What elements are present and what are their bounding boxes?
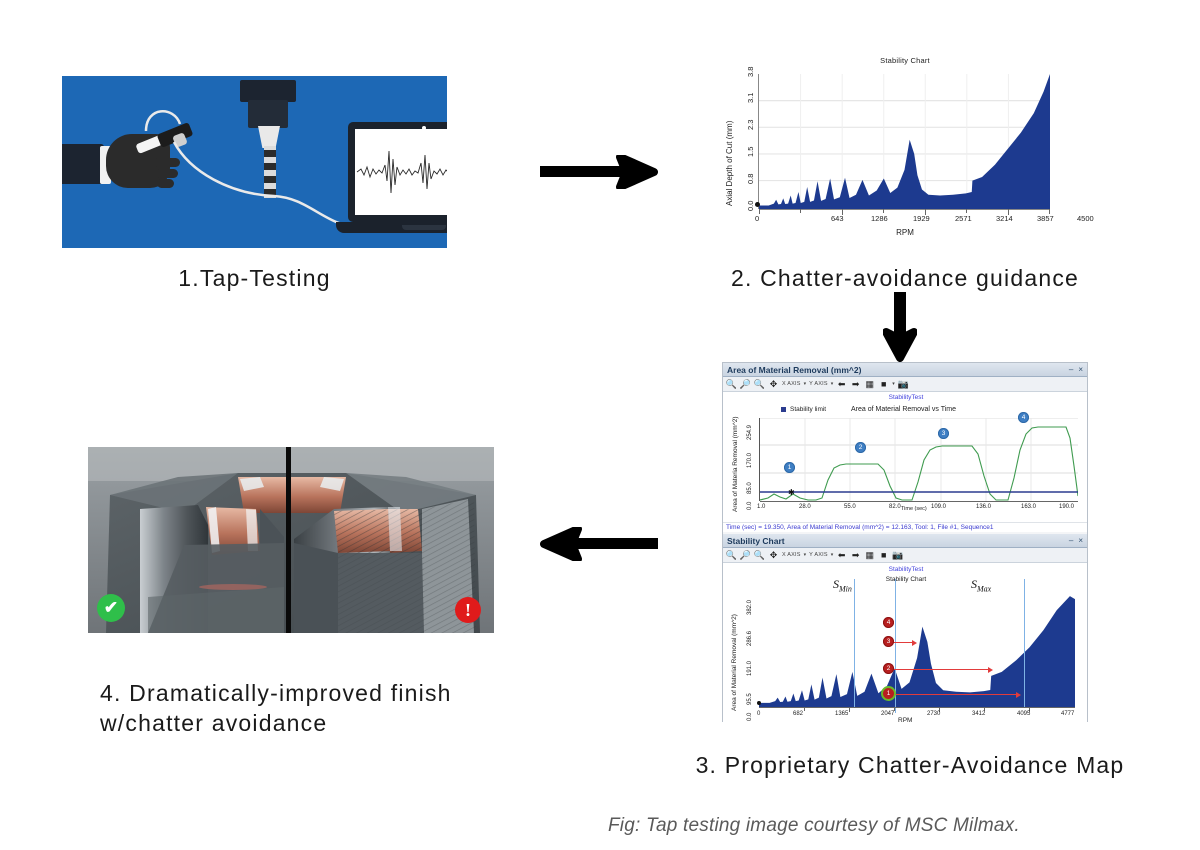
chart3-ytick: 170.0 [747,453,753,468]
chart4-ylabel: Area of Material Removal (mm^2) [731,614,738,711]
chart4-ytick: 191.0 [747,661,753,676]
window2-title: Stability Chart [727,536,1064,546]
window2-toolbar: 🔍 🔎 🔍 ✥ X AXIS ▾ Y AXIS ▾ ⬅ ➡ ▦ ■ 📷 [723,548,1087,563]
chart2-xtick: 0 [755,214,759,223]
chart2-xtick: 3857 [1037,214,1054,223]
chart4-xtick: 4095 [1017,711,1030,717]
chart4-guide-arrow [891,691,1021,698]
chart2-ytick: 2.3 [746,120,755,130]
legend-swatch-stability-limit [781,407,786,412]
stability-chart-step2: Stability Chart Axial Depth of Cut (mm) … [715,56,1095,246]
chatter-avoidance-software: Area of Material Removal (mm^2) – × 🔍 🔎 … [722,362,1088,722]
chart3-ylabel: Area of Materia Removal (mm^2) [732,416,739,512]
y-axis-chevron-down-icon[interactable]: ▾ [831,381,834,387]
chart3-name: StabilityTest [723,394,1089,401]
x-axis-menu-label[interactable]: X AXIS [782,552,801,558]
fill-icon[interactable]: ■ [878,550,889,561]
camera-icon[interactable]: 📷 [892,550,903,561]
chart4-name: StabilityTest [723,566,1089,573]
s-min-guide-line [854,579,855,707]
window-area-of-material-removal: Area of Material Removal (mm^2) – × 🔍 🔎 … [723,363,1087,532]
y-axis-chevron-down-icon[interactable]: ▾ [831,552,834,558]
chart3-xtick: 82.0 [889,504,901,510]
chart2-title: Stability Chart [715,56,1095,65]
chart4-guide-arrow [891,666,993,673]
fill-icon[interactable]: ■ [878,379,889,390]
chart4-marker[interactable]: 4 [883,617,894,628]
step3-caption: 3. Proprietary Chatter-Avoidance Map [640,750,1180,780]
window1-status-bar: Time (sec) = 19.350, Area of Material Re… [723,522,1087,532]
chart3-xtick: 55.0 [844,504,856,510]
fit-icon[interactable]: ✥ [768,550,779,561]
grid-icon[interactable]: ▦ [864,550,875,561]
zoom-icon[interactable]: 🔍 [754,550,765,561]
chart3-xtick: 28.0 [799,504,811,510]
zoom-in-icon[interactable]: 🔍 [726,550,737,561]
s-max-guide-line [1024,579,1025,707]
back-arrow-icon[interactable]: ⬅ [836,379,847,390]
chart3-xtick: 109.0 [931,504,946,510]
chart4-ytick: 286.6 [747,631,753,646]
y-axis-menu-label[interactable]: Y AXIS [809,381,828,387]
laptop-notch [402,225,446,230]
grid-icon[interactable]: ▦ [864,379,875,390]
s-min-annotation: SMin [833,577,852,593]
chart4-xtick: 2730 [927,711,940,717]
step2-caption: 2. Chatter-avoidance guidance [655,263,1155,293]
machined-part-comparison-photo: ✔ ! [88,447,494,633]
chart2-ytick: 1.5 [746,147,755,157]
chart2-xlabel: RPM [715,228,1095,237]
back-arrow-icon[interactable]: ⬅ [836,550,847,561]
window1-close-icon[interactable]: × [1078,365,1083,374]
chart3-ytick: 85.0 [747,482,753,494]
chart4-ytick: 0.0 [747,713,753,721]
chart2-xtick: 2571 [955,214,972,223]
chart4-xtick: 4777 [1061,711,1074,717]
chatter-warning-icon: ! [455,597,481,623]
vibration-waveform-icon [355,129,447,215]
step1-caption: 1.Tap-Testing [62,263,447,293]
forward-arrow-icon[interactable]: ➡ [850,550,861,561]
chart2-xtick: 643 [831,214,844,223]
zoom-icon[interactable]: 🔍 [754,379,765,390]
chart4-xtick: 2047 [881,711,894,717]
zoom-in-icon[interactable]: 🔍 [726,379,737,390]
chart2-xtick: 3214 [996,214,1013,223]
forward-arrow-icon[interactable]: ➡ [850,379,861,390]
window-stability-chart: Stability Chart – × 🔍 🔎 🔍 ✥ X AXIS ▾ Y A… [723,534,1087,731]
chart4-marker[interactable]: 2 [883,663,894,674]
laptop-camera-dot [422,126,426,130]
chart2-unstable-region [759,74,1050,209]
chart3-ytick: 0.0 [747,502,753,510]
window2-close-icon[interactable]: × [1078,536,1083,545]
chart3-xlabel: Time (sec) [901,506,927,512]
chart2-origin-dot [755,202,760,207]
chart4-guide-arrow [891,639,917,646]
tap-testing-illustration [62,76,447,248]
good-finish-check-icon: ✔ [97,594,125,622]
chart3-marker[interactable]: 1 [784,462,795,473]
chart4-title: Stability Chart [723,576,1089,583]
chart4-xlabel: RPM [898,717,912,724]
window1-minimize-icon[interactable]: – [1069,365,1073,374]
x-axis-menu-label[interactable]: X AXIS [782,381,801,387]
chart3-plot-area: 1 2 3 4 ✱ [759,418,1078,501]
chart2-ylabel: Axial Depth of Cut (mm) [725,121,734,206]
arrow-right-step1-to-step2 [540,155,658,194]
zoom-out-icon[interactable]: 🔎 [740,379,751,390]
figure-canvas: 1.Tap-Testing Stability Chart Axial Dept… [0,0,1200,850]
chart2-xtick: 4500 [1077,214,1094,223]
chart4-xtick: 3412 [972,711,985,717]
chart3-marker[interactable]: 4 [1018,412,1029,423]
window2-title-bar[interactable]: Stability Chart – × [723,534,1087,548]
chart3-xtick: 163.0 [1021,504,1036,510]
part-photo-graphic [88,447,494,633]
step4-caption: 4. Dramatically-improved finish w/chatte… [100,678,540,738]
laptop-screen [348,122,447,222]
s-max-annotation: SMax [971,577,991,593]
window2-chart: StabilityTest Stability Chart SMin SMax … [723,563,1087,731]
legend-label-stability-limit: Stability limit [790,406,826,413]
chart4-ytick: 382.0 [747,600,753,615]
window1-toolbar: 🔍 🔎 🔍 ✥ X AXIS ▾ Y AXIS ▾ ⬅ ➡ ▦ ■ ▾ 📷 [723,377,1087,392]
window1-title: Area of Material Removal (mm^2) [727,365,1064,375]
zoom-out-icon[interactable]: 🔎 [740,550,751,561]
chart2-ytick: 3.8 [746,67,755,77]
chart4-marker[interactable]: 3 [883,636,894,647]
camera-icon[interactable]: 📷 [898,379,909,390]
cursor-crosshair-icon: ✱ [788,488,795,497]
chart4-plot-area: 4 3 2 1 [759,595,1075,707]
window1-chart: StabilityTest Stability limit Area of Ma… [723,392,1087,522]
x-axis-chevron-down-icon[interactable]: ▾ [804,381,807,387]
chart4-marker-selected[interactable]: 1 [883,688,894,699]
chart2-ytick: 3.1 [746,93,755,103]
chart4-xtick: 1365 [835,711,848,717]
arrow-left-step3-to-step4 [540,527,658,566]
chart2-plot-area [758,74,1050,209]
chart3-xtick: 190.0 [1059,504,1074,510]
chart2-ytick: 0.8 [746,174,755,184]
figure-footnote: Fig: Tap testing image courtesy of MSC M… [608,815,1020,837]
chart3-title: Area of Material Removal vs Time [851,406,956,413]
window2-minimize-icon[interactable]: – [1069,536,1073,545]
chart2-ytick: 0.0 [746,201,755,211]
chart3-xtick: 136.0 [976,504,991,510]
chart3-legend: Stability limit [781,406,826,413]
arrow-down-step2-to-step3 [883,292,917,367]
chart4-ytick: 95.5 [747,693,753,705]
fill-chevron-down-icon[interactable]: ▾ [892,381,895,387]
chart2-xtick: 1929 [913,214,930,223]
window1-title-bar[interactable]: Area of Material Removal (mm^2) – × [723,363,1087,377]
y-axis-menu-label[interactable]: Y AXIS [809,552,828,558]
fit-icon[interactable]: ✥ [768,379,779,390]
chart3-xtick: 1.0 [757,504,765,510]
chart3-ytick: 254.9 [747,425,753,440]
chart2-xtick: 1286 [871,214,888,223]
step4-caption-text: 4. Dramatically-improved finish w/chatte… [100,680,452,736]
x-axis-chevron-down-icon[interactable]: ▾ [804,552,807,558]
chart4-xtick: 682 [793,711,803,717]
chart3-marker[interactable]: 2 [855,442,866,453]
chart4-xtick: 0 [757,711,760,717]
chart3-marker[interactable]: 3 [938,428,949,439]
